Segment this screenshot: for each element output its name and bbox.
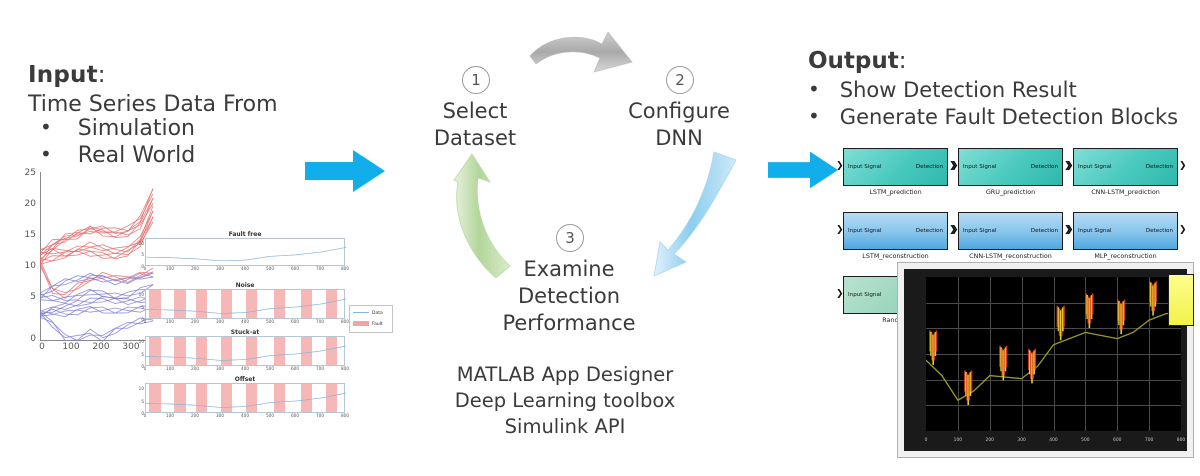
tool-item: Deep Learning toolbox [440,388,690,414]
input-heading: Input: [28,62,106,88]
bullet-dot-icon: • [808,78,820,101]
input-bullet-label: Simulation [78,116,195,141]
y-tick: 15 [18,230,36,240]
bullet-dot-icon: • [808,105,820,128]
yellow-block[interactable] [1168,274,1194,326]
subplot-x-tick: 100 [163,266,177,271]
scope-x-tick: 300 [1015,438,1029,443]
subplot-y-tick: 10 [135,339,144,344]
legend: Data Fault [349,305,393,333]
block-input-port-label: Input Signal [848,292,881,298]
step2-line1: Configure [619,98,739,125]
cyan-arrow-input-icon [305,150,385,192]
simulink-block-mlp_reconstruction[interactable]: Input SignalDetection [1073,212,1178,250]
subplot-x-tick: 200 [188,413,202,418]
subplot-x-tick: 700 [313,266,327,271]
scope-x-tick: 100 [951,438,965,443]
subplot-x-tick: 800 [338,366,352,371]
block-name-label: GRU_prediction [958,188,1063,196]
simulink-block-gru_prediction[interactable]: Input SignalDetection [958,148,1063,186]
subplot-x-tick: 600 [288,319,302,324]
subplot-x-tick: 300 [213,266,227,271]
subplot-x-tick: 800 [338,319,352,324]
output-bullet-item: • Generate Fault Detection Blocks [808,105,1178,129]
subplot-x-tick: 300 [213,319,227,324]
subplot-x-tick: 500 [263,319,277,324]
output-heading: Output: [808,48,907,74]
scope-series [926,277,1181,431]
subplot-x-tick: 600 [288,366,302,371]
output-bullet-item: • Show Detection Result [808,78,1077,102]
bullet-dot-icon: • [40,116,52,139]
subplot-line [146,239,346,267]
step-number-1: 1 [462,66,490,94]
subplot-title: Fault free [145,231,345,238]
output-bullet-label: Generate Fault Detection Blocks [840,105,1178,129]
step3-line3: Performance [489,310,649,337]
input-subtitle: Time Series Data From [28,92,278,117]
block-input-port-label: Input Signal [963,228,996,234]
subplot-x-tick: 400 [238,413,252,418]
subplot-offset [145,383,345,413]
input-timeseries-chart: 25 20 15 10 5 0 0 100 200 300 [18,172,154,357]
scope-x-tick: 400 [1047,438,1061,443]
y-tick: 10 [18,261,36,271]
block-name-label: CNN-LSTM_prediction [1073,188,1178,196]
subplot-title: Stuck-at [145,329,345,336]
subplot-x-tick: 800 [338,413,352,418]
subplot-x-tick: 200 [188,266,202,271]
subplot-x-tick: 500 [263,266,277,271]
input-port-arrow-icon: ❯ [836,226,844,235]
block-output-port-label: Detection [1146,228,1173,234]
simulink-block-cnn-lstm_reconstruction[interactable]: Input SignalDetection [958,212,1063,250]
block-name-label: LSTM_reconstruction [843,252,948,260]
subplot-x-tick: 800 [338,266,352,271]
block-output-port-label: Detection [1031,164,1058,170]
block-output-port-label: Detection [916,164,943,170]
simulink-block-lstm_reconstruction[interactable]: Input SignalDetection [843,212,948,250]
gray-curved-arrow-icon [528,28,638,88]
step-number-3: 3 [556,224,584,252]
output-heading-text: Output [808,48,899,74]
subplot-x-tick: 400 [238,366,252,371]
subplot-x-tick: 100 [163,413,177,418]
subplot-y-tick: 10 [135,386,144,391]
y-tick: 25 [18,168,36,178]
block-output-port-label: Detection [916,228,943,234]
step-number-2: 2 [666,66,694,94]
subplot-y-tick: 10 [135,292,144,297]
step-label-select-dataset[interactable]: Select Dataset [415,98,535,152]
subplot-y-tick: 5 [135,352,144,357]
step1-line2: Dataset [415,125,535,152]
cyan-arrow-output-icon [768,150,838,190]
block-input-port-label: Input Signal [963,164,996,170]
x-tick: 200 [89,342,113,352]
subplot-line [146,337,346,367]
subplot-line [146,290,346,320]
subplot-x-tick: 600 [288,413,302,418]
subplot-x-tick: 700 [313,366,327,371]
scope-x-tick: 700 [1142,438,1156,443]
y-tick: 20 [18,199,36,209]
x-tick: 100 [59,342,83,352]
subplot-fault-free [145,238,345,266]
subplot-title: Offset [145,376,345,383]
subplot-y-tick: 0 [135,317,144,322]
legend-label: Fault [372,322,383,327]
block-input-port-label: Input Signal [848,164,881,170]
subplot-title: Noise [145,282,345,289]
output-port-arrow-icon: ❯ [1179,162,1187,171]
input-port-arrow-icon: ❯ [836,162,844,171]
legend-item: Data [353,311,383,316]
tools-list: MATLAB App Designer Deep Learning toolbo… [440,362,690,440]
block-name-label: LSTM_prediction [843,188,948,196]
input-port-arrow-icon: ❯ [951,226,959,235]
block-input-port-label: Input Signal [1078,228,1111,234]
y-tick: 5 [18,292,36,302]
subplot-x-tick: 100 [163,366,177,371]
subplot-x-tick: 200 [188,366,202,371]
scope-x-tick: 800 [1174,438,1188,443]
subplot-x-tick: 600 [288,266,302,271]
subplot-x-tick: 300 [213,366,227,371]
tool-item: MATLAB App Designer [440,362,690,388]
step3-line1: Examine [489,256,649,283]
block-name-label: MLP_reconstruction [1073,252,1178,260]
legend-swatch-fault [353,321,369,326]
input-port-arrow-icon: ❯ [1066,226,1074,235]
input-heading-text: Input [28,62,98,88]
subplot-x-tick: 500 [263,366,277,371]
simulink-block-cnn-lstm_prediction[interactable]: Input SignalDetection [1073,148,1178,186]
subplot-line [146,384,346,414]
tool-item: Simulink API [440,414,690,440]
subplot-y-tick: 0 [135,364,144,369]
subplot-x-tick: 500 [263,413,277,418]
step-label-configure-dnn[interactable]: Configure DNN [619,98,739,152]
subplot-x-tick: 700 [313,319,327,324]
simulink-block-lstm_prediction[interactable]: Input SignalDetection [843,148,948,186]
scope-x-tick: 600 [1110,438,1124,443]
step-label-examine-detection-performance[interactable]: Examine Detection Performance [489,256,649,337]
legend-swatch-data [353,312,369,314]
subplot-y-tick: 5 [135,399,144,404]
input-port-arrow-icon: ❯ [1066,162,1074,171]
subplot-y-tick: 10 [135,241,144,246]
blue-curved-arrow-icon [652,150,764,280]
step-number-3-text: 3 [565,229,575,247]
block-output-port-label: Detection [1146,164,1173,170]
subplot-stuck-at [145,336,345,366]
subplot-x-tick: 300 [213,413,227,418]
scope-inner: 0100200300400500600700800 [904,269,1187,451]
block-output-port-label: Detection [1031,228,1058,234]
subplot-noise [145,289,345,319]
bullet-dot-icon: • [40,143,52,166]
step2-line2: DNN [619,125,739,152]
subplot-x-tick: 400 [238,266,252,271]
step1-line1: Select [415,98,535,125]
legend-label: Data [372,311,383,316]
input-bullet-item: • Simulation [40,116,195,141]
scope-x-tick: 0 [919,438,933,443]
output-port-arrow-icon: ❯ [1179,226,1187,235]
output-bullet-label: Show Detection Result [840,78,1077,102]
input-heading-colon: : [98,62,106,88]
output-heading-colon: : [899,48,907,74]
subplot-x-tick: 700 [313,413,327,418]
block-name-label: CNN-LSTM_reconstruction [958,252,1063,260]
input-port-arrow-icon: ❯ [836,290,844,299]
block-input-port-label: Input Signal [1078,164,1111,170]
subplot-x-tick: 400 [238,319,252,324]
input-bullet-item: • Real World [40,143,195,168]
step-number-2-text: 2 [675,71,685,89]
scope-x-tick: 500 [1078,438,1092,443]
subplot-y-tick: 5 [135,305,144,310]
scope-plot-area: 0100200300400500600700800 [926,277,1181,431]
subplot-x-tick: 200 [188,319,202,324]
subplot-y-tick: 5 [135,252,144,257]
scope-window[interactable]: 0100200300400500600700800 [897,262,1194,458]
block-input-port-label: Input Signal [848,228,881,234]
scope-x-tick: 200 [983,438,997,443]
step3-line2: Detection [489,283,649,310]
input-bullet-label: Real World [78,143,195,168]
subplot-y-tick: 0 [135,411,144,416]
step-number-1-text: 1 [471,71,481,89]
subplot-x-tick: 100 [163,319,177,324]
input-port-arrow-icon: ❯ [951,162,959,171]
x-tick: 0 [30,342,54,352]
subplot-y-tick: 0 [135,264,144,269]
legend-item: Fault [353,321,383,327]
